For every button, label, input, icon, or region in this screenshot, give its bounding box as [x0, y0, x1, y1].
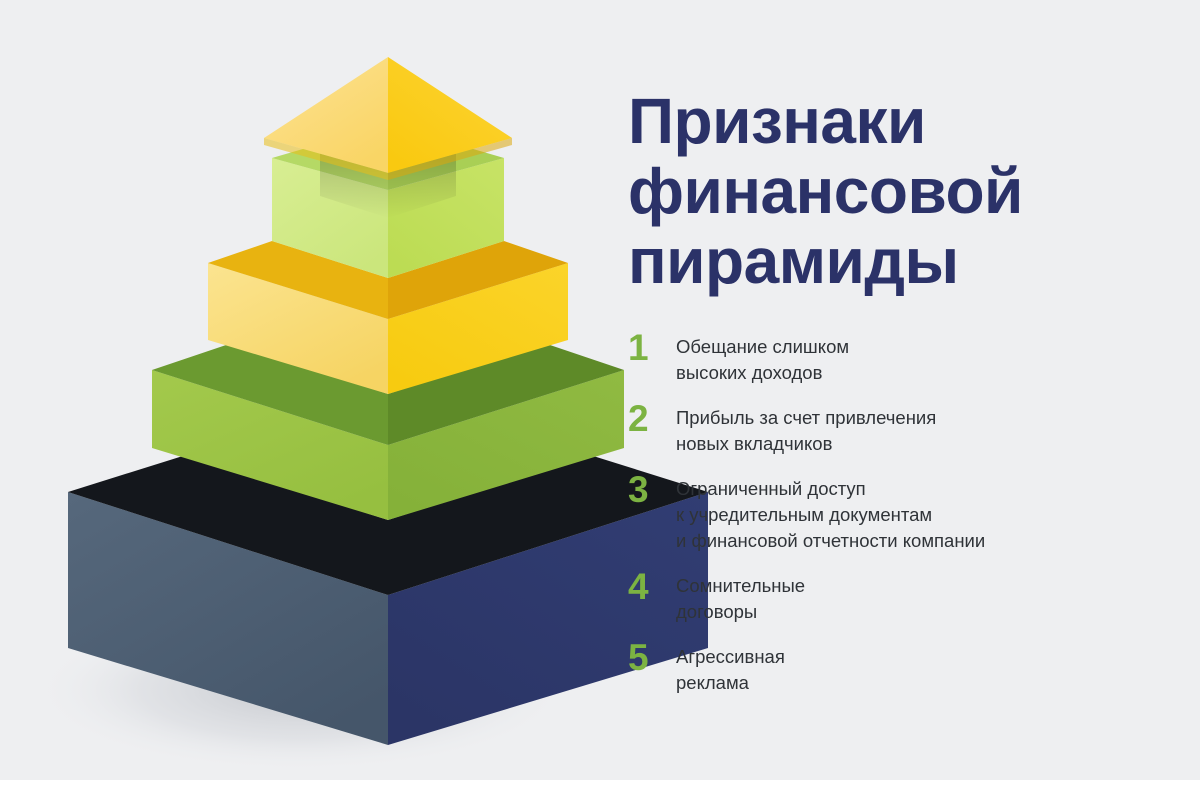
list-item: 3 Ограниченный доступ к учредительным до… [628, 474, 1188, 554]
title-line-2: финансовой [628, 156, 1176, 226]
list-item-line: к учредительным документам [676, 502, 1188, 528]
list-item-line: Сомнительные [676, 573, 1188, 599]
infographic-poster: Признаки финансовой пирамиды 1 Обещание … [0, 0, 1200, 780]
list-item-line: Ограниченный доступ [676, 476, 1188, 502]
list-item-text: Прибыль за счет привлечения новых вкладч… [676, 403, 1188, 457]
list-item: 4 Сомнительные договоры [628, 571, 1188, 625]
list-item-number: 5 [628, 642, 676, 673]
list-item-number: 1 [628, 332, 676, 363]
title-line-1: Признаки [628, 86, 1176, 156]
list-item-text: Ограниченный доступ к учредительным доку… [676, 474, 1188, 554]
list-item-number: 4 [628, 571, 676, 602]
list-item: 5 Агрессивная реклама [628, 642, 1188, 696]
list-item-line: реклама [676, 670, 1188, 696]
list-item: 1 Обещание слишком высоких доходов [628, 332, 1188, 386]
list-item-text: Сомнительные договоры [676, 571, 1188, 625]
list-item-number: 3 [628, 474, 676, 505]
list-item-line: и финансовой отчетности компании [676, 528, 1188, 554]
list-item-line: высоких доходов [676, 360, 1188, 386]
list-item-line: Агрессивная [676, 644, 1188, 670]
list-item-line: Обещание слишком [676, 334, 1188, 360]
list-item-line: Прибыль за счет привлечения [676, 405, 1188, 431]
list-item-line: новых вкладчиков [676, 431, 1188, 457]
warning-signs-list: 1 Обещание слишком высоких доходов 2 При… [628, 332, 1188, 713]
title-line-3: пирамиды [628, 226, 1176, 296]
text-panel: Признаки финансовой пирамиды 1 Обещание … [628, 0, 1188, 780]
list-item-text: Обещание слишком высоких доходов [676, 332, 1188, 386]
list-item-number: 2 [628, 403, 676, 434]
page-title: Признаки финансовой пирамиды [628, 86, 1176, 296]
list-item: 2 Прибыль за счет привлечения новых вкла… [628, 403, 1188, 457]
list-item-text: Агрессивная реклама [676, 642, 1188, 696]
list-item-line: договоры [676, 599, 1188, 625]
